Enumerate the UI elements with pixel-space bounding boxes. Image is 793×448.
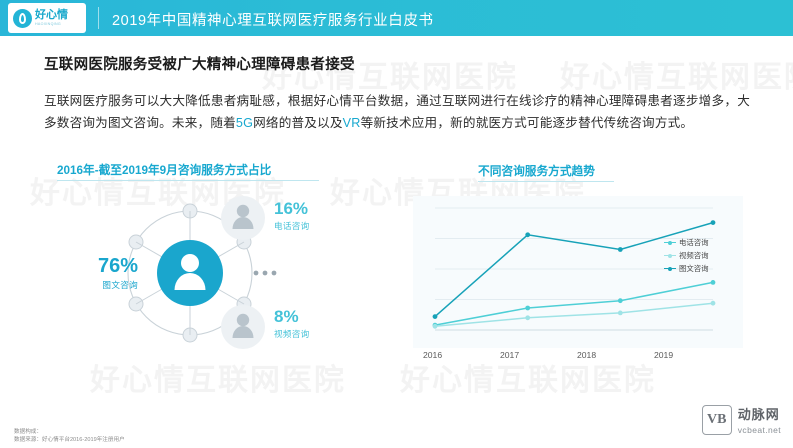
paragraph-line-2c: 等新技术应用，新的就医方式可能逐步替代传统咨询方 [361,116,668,130]
legend-item-video: 视频咨询 [664,249,709,262]
header-divider [98,7,99,29]
paragraph-line-2b: 网络的普及以及 [253,116,343,130]
paragraph-highlight-5g: 5G [236,116,253,130]
x-tick-2019: 2019 [654,350,673,360]
share-label-video: 视频咨询 [274,328,310,340]
x-tick-2017: 2017 [500,350,519,360]
right-chart-title: 不同咨询服务方式趋势 [478,162,595,179]
logo-chinese-name: 好心情 [35,10,68,21]
right-chart-title-underline [478,181,614,182]
vb-brand-name: 动脉网 [738,404,781,423]
left-chart-title: 2016年-截至2019年9月咨询服务方式占比 [57,161,271,178]
legend-item-telephone: 电话咨询 [664,236,709,249]
share-pct-text: 76% [76,255,138,278]
consultation-share-network-chart: 16% 电话咨询 8% 视频咨询 76% 图文咨询 [40,185,400,365]
x-tick-2018: 2018 [577,350,596,360]
legend-item-text: 图文咨询 [664,262,709,275]
logo-english-name: HAOXINQING [35,23,68,27]
footer-note-line-1: 数据构成： [14,428,125,436]
trend-chart-legend: 电话咨询 视频咨询 图文咨询 [664,236,709,275]
trend-x-axis-labels: 2016 2017 2018 2019 [413,350,743,364]
share-label-telephone: 电话咨询 [274,220,310,232]
legend-swatch-text [664,268,676,269]
vb-brand-url: vcbeat.net [738,425,781,435]
page-header: 好心情 HAOXINQING 2019年中国精神心理互联网医疗服务行业白皮书 [0,0,793,36]
x-tick-2016: 2016 [423,350,442,360]
paragraph-line-1: 互联网医疗服务可以大大降低患者病耻感，根据好心情平台数据，通过互联网进行在线诊疗… [44,94,712,108]
left-chart-title-underline [57,180,319,181]
paragraph-highlight-vr: VR [343,116,361,130]
section-title: 互联网医院服务受被广大精神心理障碍患者接受 [44,53,355,74]
vcbeat-logo: VB 动脉网 vcbeat.net [702,404,781,435]
legend-label-text: 图文咨询 [679,262,709,275]
legend-swatch-video [664,255,676,256]
share-pct-video: 8% [274,307,310,327]
legend-swatch-telephone [664,242,676,243]
share-label-text: 图文咨询 [76,279,138,291]
brand-logo: 好心情 HAOXINQING [8,3,86,33]
share-pct-telephone: 16% [274,199,310,219]
footer-note-line-2: 数据来源：好心情平台2016-2019年注册用户 [14,436,125,444]
share-item-video: 8% 视频咨询 [274,307,310,340]
section-paragraph: 互联网医疗服务可以大大降低患者病耻感，根据好心情平台数据，通过互联网进行在线诊疗… [44,90,750,134]
heart-logo-icon [13,9,32,28]
paragraph-line-3: 式。 [668,116,694,130]
legend-label-video: 视频咨询 [679,249,709,262]
footer-source-note: 数据构成： 数据来源：好心情平台2016-2019年注册用户 [14,428,125,444]
page-title: 2019年中国精神心理互联网医疗服务行业白皮书 [112,9,434,30]
share-item-text: 76% 图文咨询 [76,255,138,291]
vb-badge-icon: VB [702,405,732,435]
share-item-telephone: 16% 电话咨询 [274,199,310,232]
legend-label-telephone: 电话咨询 [679,236,709,249]
